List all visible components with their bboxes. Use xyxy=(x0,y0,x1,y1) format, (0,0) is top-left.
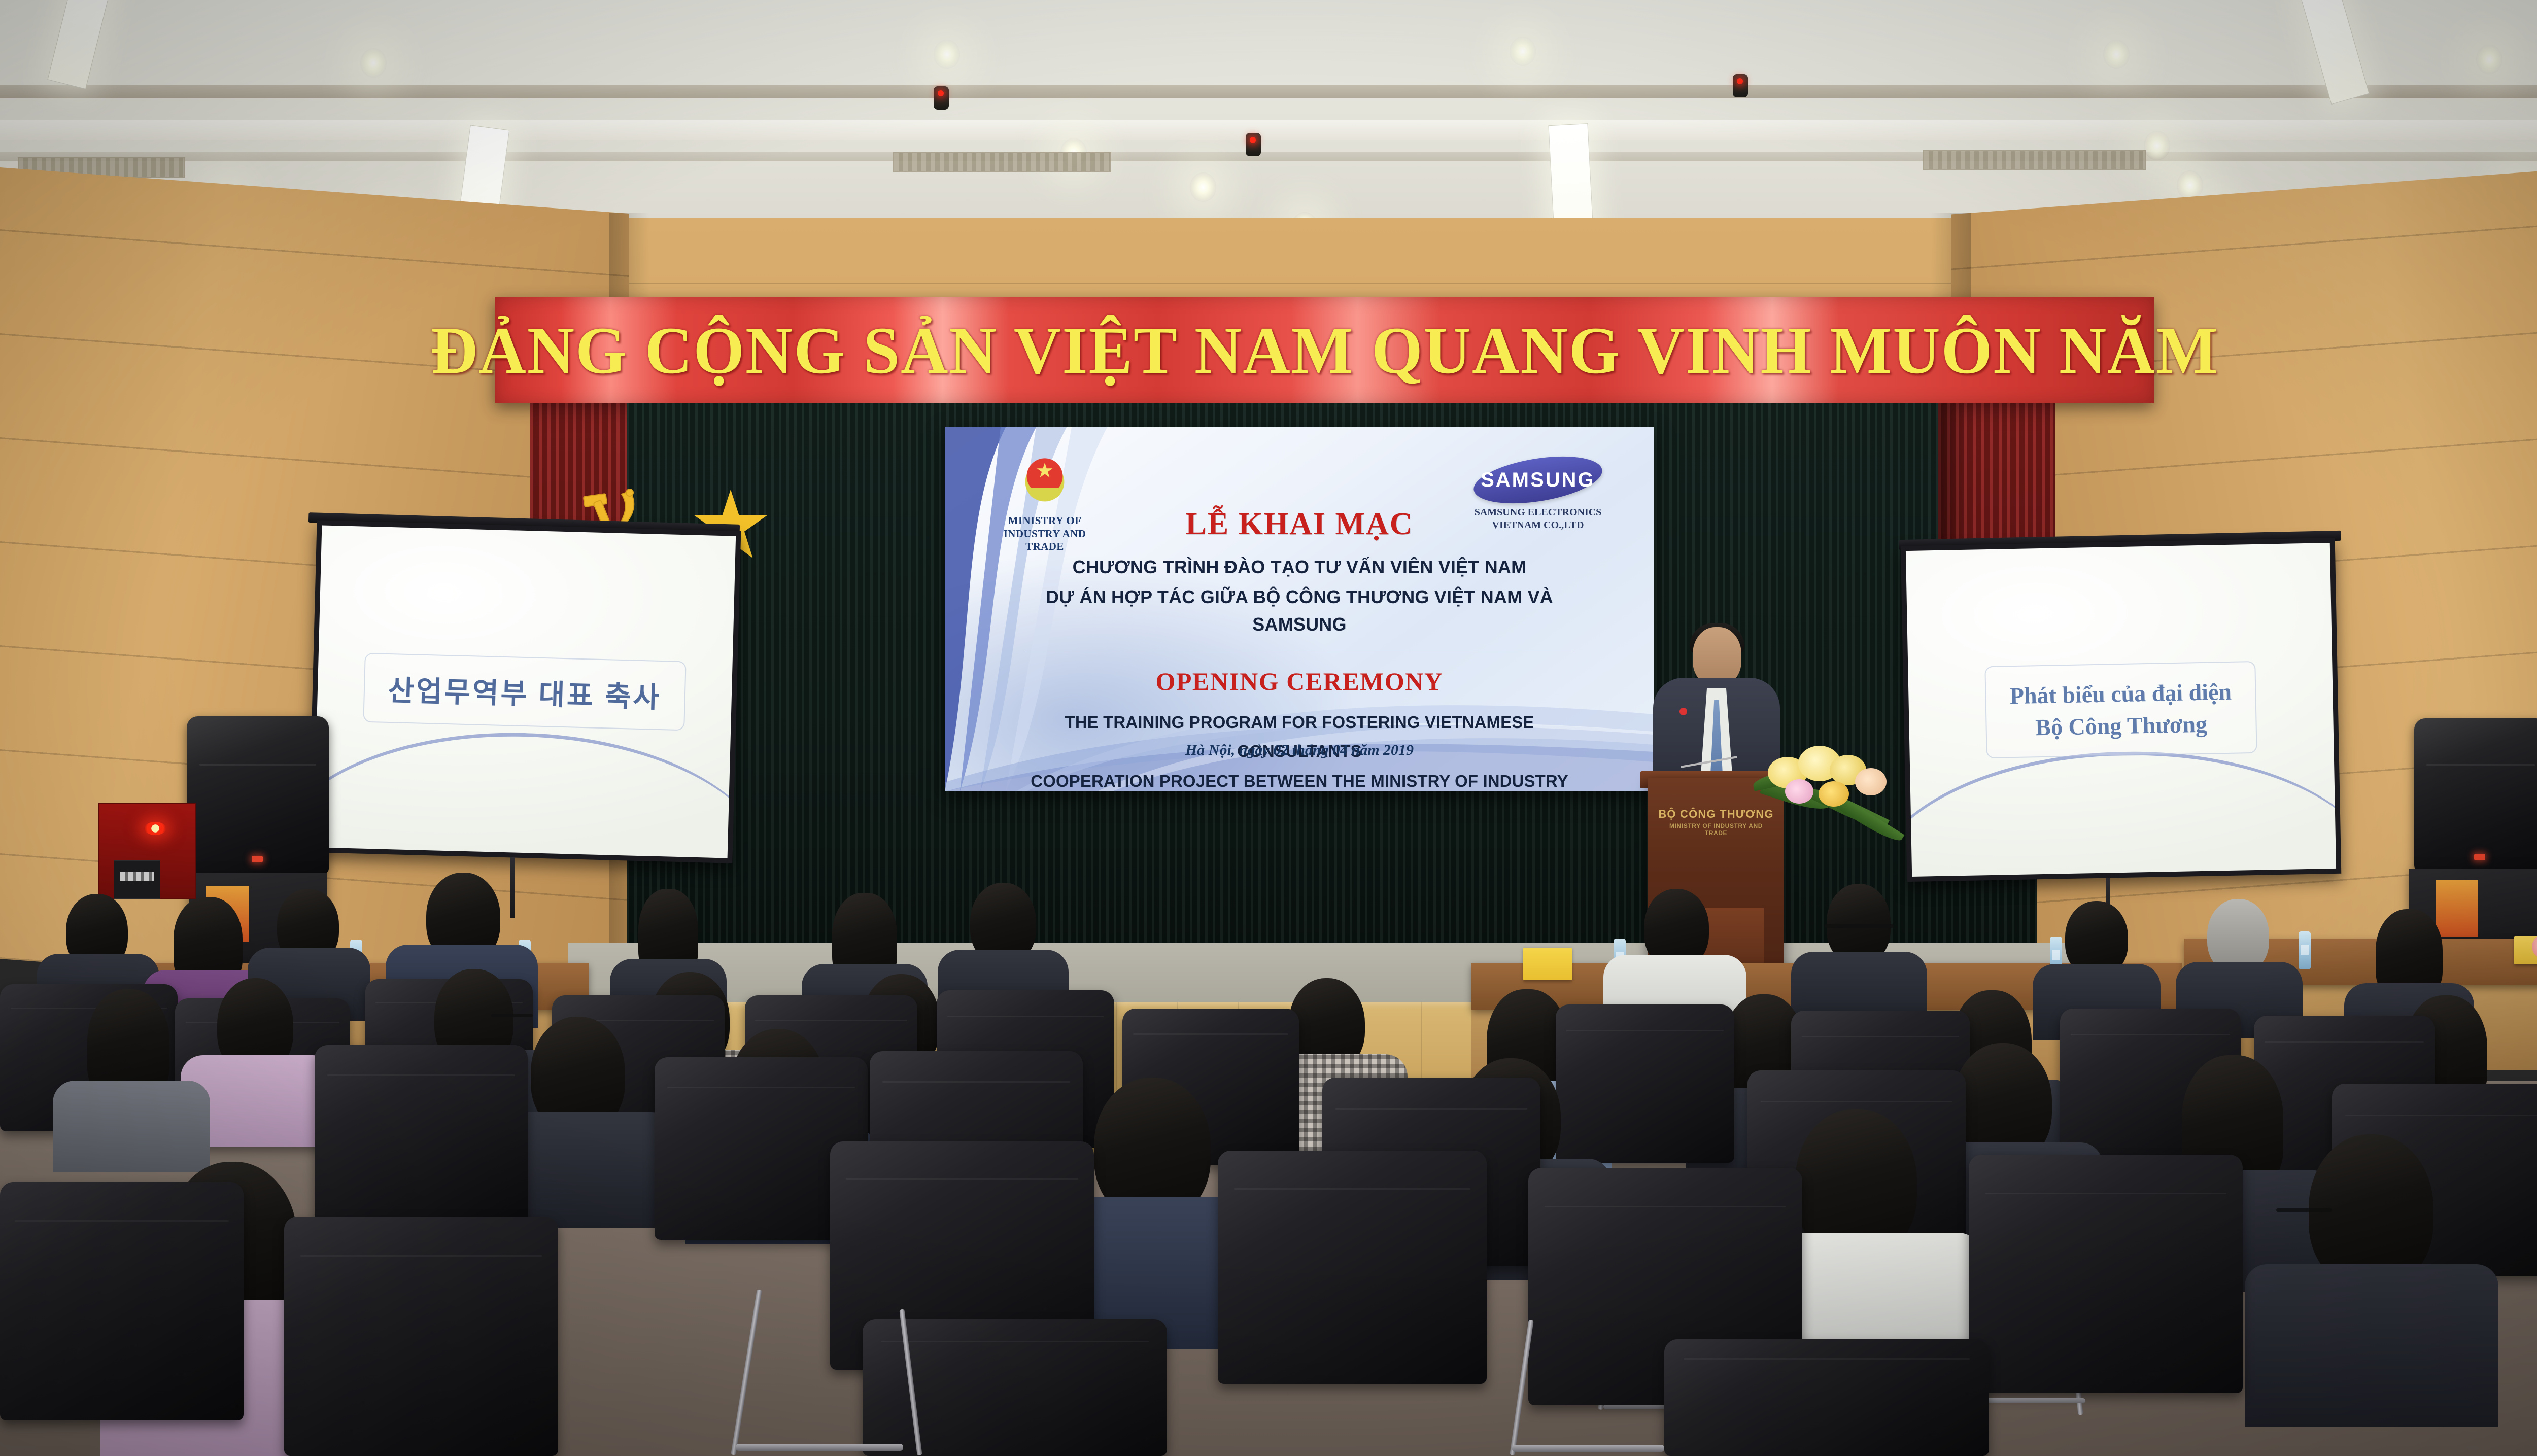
slogan-banner-text: ĐẢNG CỘNG SẢN VIỆT NAM QUANG VINH MUÔN N… xyxy=(430,311,2219,389)
screen-left-stand-pole xyxy=(510,857,515,918)
audience-chair[interactable] xyxy=(284,1217,558,1456)
audience-chair[interactable] xyxy=(1969,1155,2243,1393)
banner-subtitle-vi-2: DỰ ÁN HỢP TÁC GIỮA BỘ CÔNG THƯƠNG VIỆT N… xyxy=(1021,583,1578,639)
main-event-banner: MINISTRY OF INDUSTRY AND TRADE SAMSUNG S… xyxy=(945,427,1654,791)
chair-foot-rail xyxy=(1512,1445,1664,1452)
loudspeaker-right xyxy=(2414,718,2537,871)
attendee-glasses xyxy=(1825,924,1894,928)
smoke-detector xyxy=(1246,133,1261,156)
banner-title-en: OPENING CEREMONY xyxy=(1021,667,1578,696)
loudspeaker-right-led xyxy=(2474,854,2485,860)
projection-screen-right: Phát biểu của đại diện Bộ Công Thương xyxy=(1901,538,2342,882)
projection-screen-left-surface: 산업무역부 대표 축사 xyxy=(314,525,736,858)
projection-screen-right-line1: Phát biểu của đại diện xyxy=(2009,675,2232,712)
attendee-glasses xyxy=(2276,1208,2332,1212)
projection-screen-left: 산업무역부 대표 축사 xyxy=(308,520,741,863)
loudspeaker-left xyxy=(187,716,329,874)
water-bottle xyxy=(2299,931,2311,969)
samsung-oval-icon: SAMSUNG xyxy=(1470,448,1605,511)
audience-chair[interactable] xyxy=(0,1182,244,1420)
banner-title-vi: LỄ KHAI MẠC xyxy=(1021,506,1578,542)
fire-alarm-control-box[interactable] xyxy=(114,860,160,899)
subwoofer-right-sticker xyxy=(2436,880,2478,937)
fire-alarm-indicator-led xyxy=(144,822,166,835)
vietnam-emblem-icon xyxy=(1016,454,1073,510)
smoke-detector xyxy=(934,86,949,110)
audience-chair[interactable] xyxy=(1556,1004,1734,1163)
slogan-banner: ĐẢNG CỘNG SẢN VIỆT NAM QUANG VINH MUÔN N… xyxy=(495,297,2154,403)
ceiling-downlight xyxy=(2476,45,2502,74)
audience-chair[interactable] xyxy=(1664,1339,1989,1456)
table-name-card xyxy=(1523,948,1572,980)
audience-chair[interactable] xyxy=(863,1319,1167,1456)
attendee-shoulders xyxy=(2245,1264,2498,1427)
ceiling-downlight xyxy=(1510,37,1536,66)
projection-screen-right-surface: Phát biểu của đại diện Bộ Công Thương xyxy=(1906,543,2336,877)
projection-screen-left-text: 산업무역부 대표 축사 xyxy=(388,668,662,716)
chair-foot-rail xyxy=(736,1444,903,1451)
fire-alarm-panel[interactable] xyxy=(98,803,196,899)
ac-vent xyxy=(893,152,1111,172)
audience-chair[interactable] xyxy=(315,1045,528,1228)
attendee-shoulders xyxy=(53,1081,210,1172)
samsung-wordmark: SAMSUNG xyxy=(1481,469,1595,492)
flower-arrangement xyxy=(1756,731,1903,837)
projection-screen-right-textbox: Phát biểu của đại diện Bộ Công Thương xyxy=(1985,661,2257,758)
projection-screen-left-textbox: 산업무역부 대표 축사 xyxy=(363,653,687,731)
banner-subtitle-vi-1: CHƯƠNG TRÌNH ĐÀO TẠO TƯ VẤN VIÊN VIỆT NA… xyxy=(1021,553,1578,581)
banner-divider xyxy=(1025,652,1573,652)
audience-chair[interactable] xyxy=(1218,1151,1487,1384)
speaker-lapel-pin xyxy=(1679,708,1687,715)
attendee-glasses xyxy=(491,1014,533,1017)
banner-subtitle-en-2: COOPERATION PROJECT BETWEEN THE MINISTRY… xyxy=(1021,767,1578,791)
ac-vent xyxy=(1923,150,2146,170)
loudspeaker-left-led xyxy=(252,856,263,862)
banner-date: Hà Nội, ngày 02 tháng 04 năm 2019 xyxy=(945,742,1654,759)
ceiling-downlight xyxy=(2177,170,2203,200)
speaker-head xyxy=(1693,627,1741,686)
projection-screen-right-line2: Bộ Công Thương xyxy=(2010,708,2232,744)
ceiling-downlight xyxy=(1190,172,1216,202)
smoke-detector xyxy=(1733,74,1748,97)
ceiling-downlight xyxy=(2103,40,2130,69)
ceiling-downlight xyxy=(2144,131,2170,160)
ceiling-downlight xyxy=(934,40,960,69)
conference-hall-photo: ĐẢNG CỘNG SẢN VIỆT NAM QUANG VINH MUÔN N… xyxy=(0,0,2537,1456)
ceiling-beam-far xyxy=(0,85,2537,98)
ceiling-downlight xyxy=(360,48,387,78)
